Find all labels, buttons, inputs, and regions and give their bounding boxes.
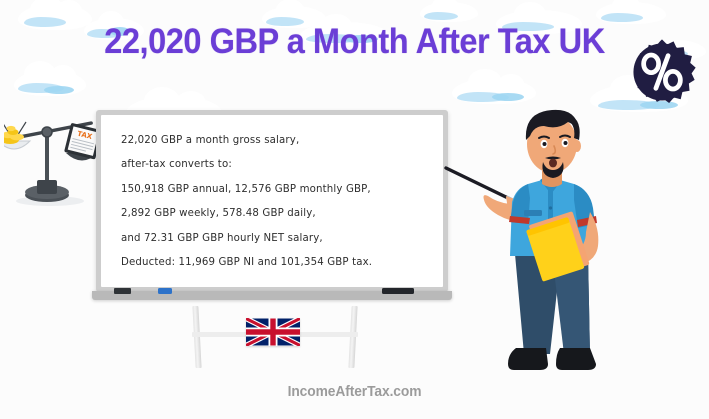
teacher-illustration [440,96,660,386]
scale-pivot [42,127,52,137]
cloud-decoration [420,2,478,22]
board-line-4: 2,892 GBP weekly, 578.48 GBP daily, [121,202,427,226]
cloud-body [596,2,666,24]
cloud-lump [498,74,524,94]
cloud-decoration [596,2,666,24]
cloud-lump [468,69,502,95]
board-line-2: after-tax converts to: [121,153,427,177]
whiteboard-frame: 22,020 GBP a month gross salary, after-t… [96,110,448,292]
cloud-decoration [14,70,86,96]
uk-flag-icon [246,318,300,346]
cloud-lump [24,61,56,87]
whiteboard: 22,020 GBP a month gross salary, after-t… [96,110,448,306]
board-line-5: and 72.31 GBP GBP hourly NET salary, [121,227,427,251]
board-line-1: 22,020 GBP a month gross salary, [121,129,427,153]
whiteboard-surface: 22,020 GBP a month gross salary, after-t… [101,115,443,287]
cloud-lump [276,0,304,21]
cloud-lump [56,0,82,22]
pointer-stick [446,168,516,202]
cloud-lump [432,0,458,16]
cloud-lump [612,0,640,17]
balance-scale-icon: TAX [4,108,110,214]
page-title: 22,020 GBP a Month After Tax UK [25,22,684,62]
head [526,110,581,178]
cloud-accent [601,13,643,22]
shoes [508,348,596,370]
scale-pillar [37,180,57,194]
percent-badge [628,38,696,106]
eraser-icon [114,288,131,294]
cloud-lump [50,65,76,87]
board-line-3: 150,918 GBP annual, 12,576 GBP monthly G… [121,178,427,202]
board-line-6: Deducted: 11,969 GBP NI and 101,354 GBP … [121,251,427,275]
cloud-body [14,70,86,96]
whiteboard-marker-tray [92,291,452,300]
poster-canvas: 22,020 GBP a Month After Tax UK [0,0,709,419]
blue-marker-icon [158,288,172,294]
cloud-accent [424,12,458,20]
black-marker-icon [382,288,414,294]
easel-leg-left [192,306,201,368]
site-watermark: IncomeAfterTax.com [28,383,680,400]
cloud-accent [18,83,64,93]
cloud-accent-dot [44,86,74,94]
cloud-body [420,2,478,22]
cloud-lump [30,0,64,24]
easel-leg-right [348,306,357,368]
